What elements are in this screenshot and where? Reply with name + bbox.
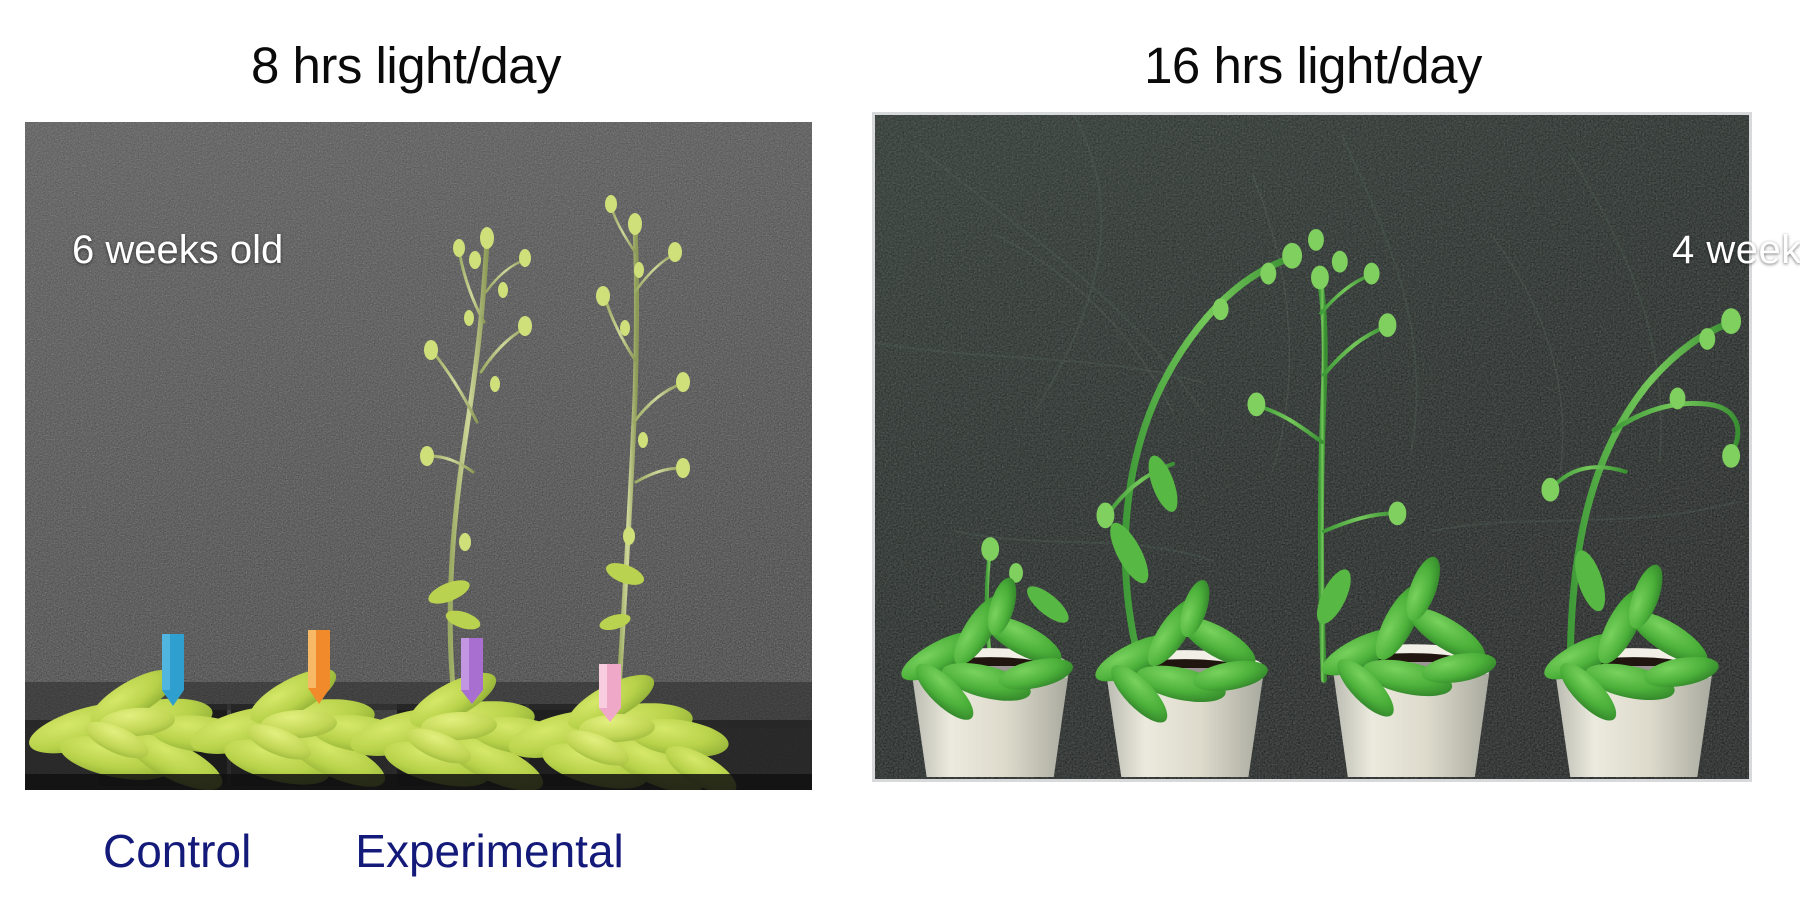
panel-title-long-day: 16 hrs light/day	[872, 36, 1800, 112]
photo-long-day-svg	[875, 115, 1749, 779]
photo-long-day	[872, 112, 1752, 782]
panel-title-short-day: 8 hrs light/day	[0, 36, 872, 95]
captions-long-day: Control Experimental	[1744, 819, 1800, 883]
plant-tag-purple	[461, 638, 483, 704]
captions-short-day: Control Experimental	[25, 819, 812, 883]
caption-control-short-day: Control	[103, 824, 251, 878]
panel-long-day: 16 hrs light/day	[872, 0, 1800, 905]
caption-experimental-short-day: Experimental	[355, 824, 623, 878]
panel-short-day: 8 hrs light/day	[0, 0, 872, 905]
photo-short-day-svg	[25, 122, 812, 790]
photo-short-day	[25, 122, 812, 790]
